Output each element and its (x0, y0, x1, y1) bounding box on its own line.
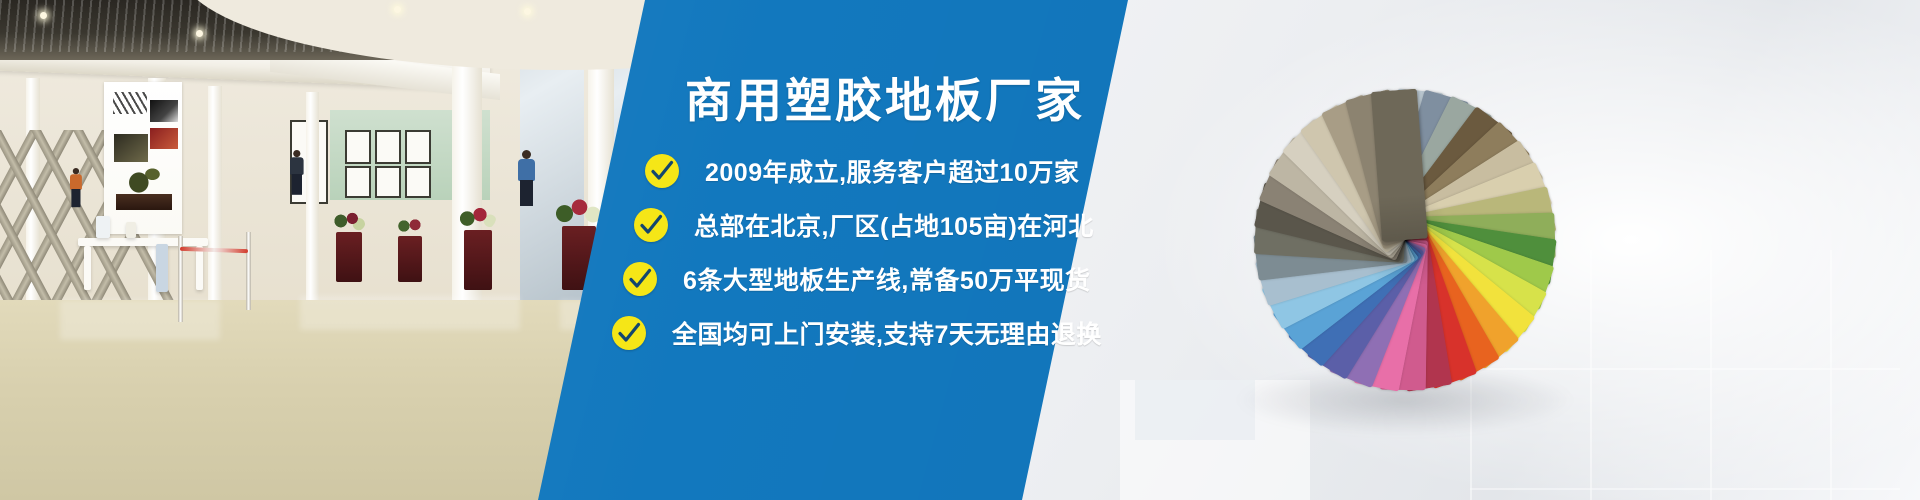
photo-flower-arrangement (330, 208, 366, 234)
check-circle-icon (612, 316, 646, 350)
feature-item: 6条大型地板生产线,常备50万平现货 (600, 254, 1140, 304)
photo-picture-frame (375, 130, 401, 164)
photo-vase (156, 244, 168, 292)
photo-column (306, 92, 319, 322)
photo-display-table (78, 238, 208, 246)
feature-item: 2009年成立,服务客户超过10万家 (600, 146, 1140, 196)
feature-list: 2009年成立,服务客户超过10万家 总部在北京,厂区(占地105亩)在河北 6… (600, 146, 1140, 362)
photo-flower-arrangement (456, 204, 496, 232)
photo-vase (126, 222, 136, 238)
feature-text: 6条大型地板生产线,常备50万平现货 (683, 261, 1091, 297)
photo-picture-frame (405, 130, 431, 164)
photo-flower-arrangement (552, 196, 602, 228)
photo-flower-arrangement (392, 214, 426, 238)
photo-display-pedestal (398, 236, 422, 282)
banner-content: 商用塑胶地板厂家 2009年成立,服务客户超过10万家 总部在北京,厂区(占地1… (600, 0, 1140, 500)
photo-ceiling-light (524, 8, 531, 15)
photo-vase (96, 216, 110, 238)
vinyl-color-fan (1205, 40, 1605, 440)
photo-picture-frame (405, 166, 431, 198)
feature-text: 2009年成立,服务客户超过10万家 (705, 153, 1079, 189)
photo-display-pedestal (464, 230, 492, 290)
photo-ceiling-light (196, 30, 203, 37)
photo-ceiling-light (394, 6, 401, 13)
promo-banner: 商用塑胶地板厂家 2009年成立,服务客户超过10万家 总部在北京,厂区(占地1… (0, 0, 1920, 500)
photo-ceiling-light (40, 12, 47, 19)
photo-picture-frame (345, 130, 371, 164)
photo-floor-reflection (60, 300, 220, 340)
check-circle-icon (623, 262, 657, 296)
photo-display-pedestal (336, 232, 362, 282)
feature-text: 全国均可上门安装,支持7天无理由退换 (672, 315, 1102, 351)
banner-headline: 商用塑胶地板厂家 (685, 62, 1085, 131)
photo-picture-frame (375, 166, 401, 198)
photo-column (208, 86, 222, 336)
feature-item: 总部在北京,厂区(占地105亩)在河北 (600, 200, 1140, 250)
check-circle-icon (634, 208, 668, 242)
photo-stanchion (246, 232, 251, 310)
photo-table-leg (196, 246, 203, 290)
check-circle-icon (645, 154, 679, 188)
feature-text: 总部在北京,厂区(占地105亩)在河北 (694, 207, 1094, 243)
photo-floor-reflection (300, 296, 520, 330)
photo-picture-frame (345, 166, 371, 198)
photo-table-leg (84, 246, 91, 290)
feature-item: 全国均可上门安装,支持7天无理由退换 (600, 308, 1140, 358)
photo-calligraphy-banner (104, 82, 182, 234)
